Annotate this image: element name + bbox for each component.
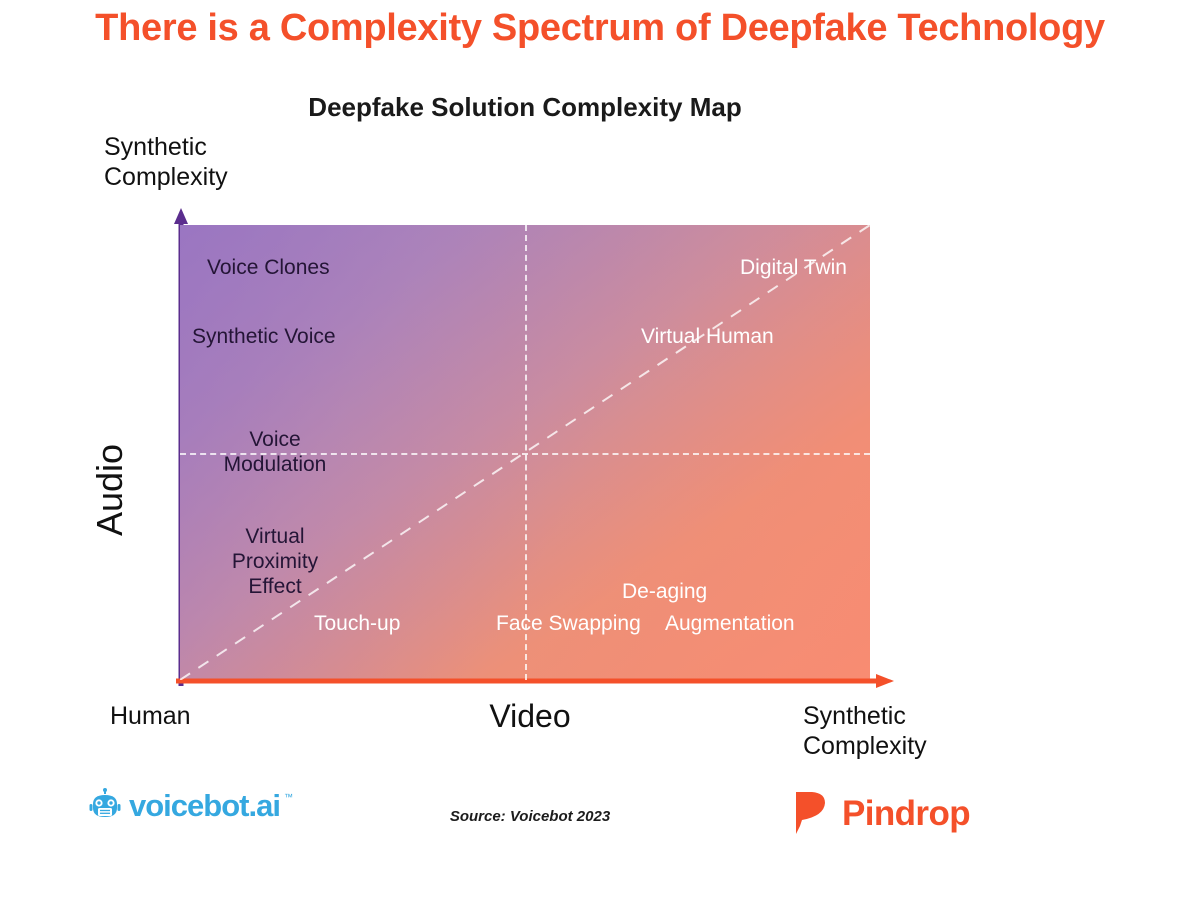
map-label-face-swapping: Face Swapping (496, 611, 641, 636)
y-axis-high-label: Synthetic Complexity (104, 132, 274, 192)
map-label-de-aging: De-aging (622, 579, 707, 604)
source-note: Source: Voicebot 2023 (380, 808, 680, 825)
voicebot-trademark: ™ (284, 792, 293, 802)
pindrop-mark-icon (790, 790, 832, 836)
x-axis-low-label: Human (110, 701, 191, 731)
map-label-synthetic-voice: Synthetic Voice (192, 324, 336, 349)
map-label-virtual-proximity-effect: Virtual Proximity Effect (200, 524, 350, 599)
map-label-virtual-human: Virtual Human (641, 324, 774, 349)
voicebot-wordmark: voicebot.ai (129, 790, 280, 821)
map-label-voice-clones: Voice Clones (207, 255, 330, 280)
chart-title: Deepfake Solution Complexity Map (180, 90, 870, 124)
pindrop-wordmark: Pindrop (842, 796, 970, 831)
map-label-voice-modulation: Voice Modulation (200, 427, 350, 477)
voicebot-logo: voicebot.ai ™ (88, 788, 293, 822)
y-axis-title: Audio (90, 375, 130, 605)
x-axis-high-label: Synthetic Complexity (803, 701, 1003, 761)
pindrop-logo: Pindrop (790, 790, 970, 836)
map-label-touch-up: Touch-up (314, 611, 400, 636)
page-title: There is a Complexity Spectrum of Deepfa… (0, 4, 1200, 52)
robot-icon (88, 788, 122, 822)
map-label-augmentation: Augmentation (665, 611, 795, 636)
x-axis-arrow-icon (176, 672, 896, 690)
map-label-digital-twin: Digital Twin (740, 255, 847, 280)
x-axis-title: Video (420, 697, 640, 735)
